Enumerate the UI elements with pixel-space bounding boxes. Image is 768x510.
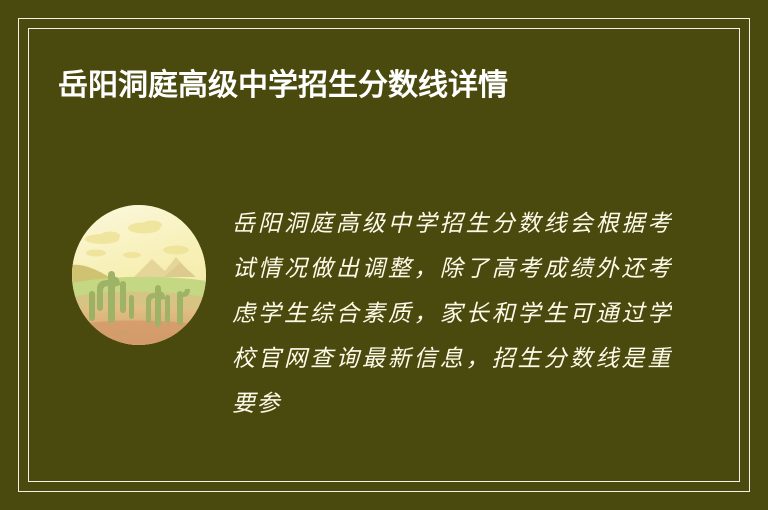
page-title: 岳阳洞庭高级中学招生分数线详情 (58, 62, 688, 110)
article-body: 岳阳洞庭高级中学招生分数线会根据考试情况做出调整，除了高考成绩外还考虑学生综合素… (232, 202, 672, 427)
thumbnail-image (72, 205, 206, 345)
article-card: 岳阳洞庭高级中学招生分数线详情 (0, 0, 768, 510)
article-content: 岳阳洞庭高级中学招生分数线会根据考试情况做出调整，除了高考成绩外还考虑学生综合素… (0, 196, 768, 496)
desert-cactus-illustration-icon (72, 205, 206, 345)
